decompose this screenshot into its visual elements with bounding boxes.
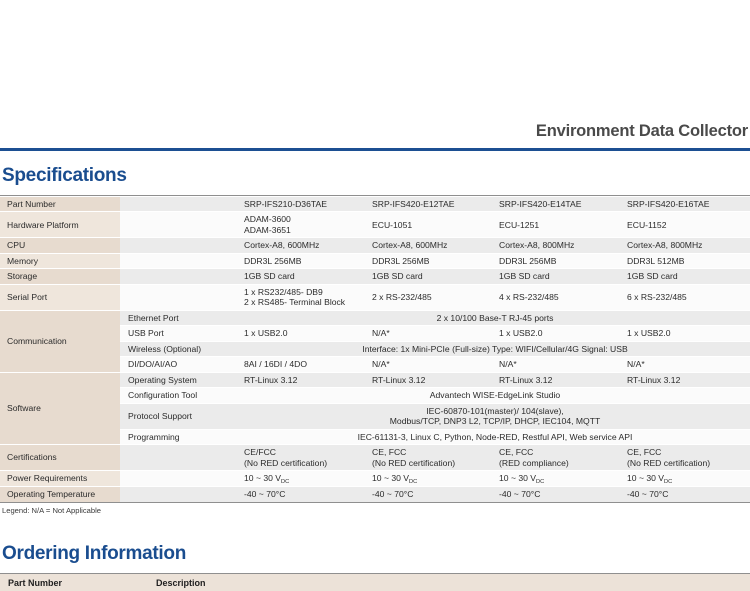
document-header: Environment Data Collector (0, 123, 750, 141)
spec-row-label: Certifications (0, 445, 120, 471)
spec-row-label: Operating Temperature (0, 487, 120, 502)
spec-row-value: RT-Linux 3.12 (366, 372, 493, 387)
spec-row-sublabel: Protocol Support (120, 403, 238, 429)
spec-row-label: Power Requirements (0, 471, 120, 487)
spec-row-sublabel: USB Port (120, 326, 238, 341)
spec-row-value: N/A* (366, 326, 493, 341)
spec-row-value: CE/FCC(No RED certification) (238, 445, 366, 471)
spec-row-label: CPU (0, 238, 120, 253)
legend-text: Legend: N/A = Not Applicable (2, 506, 101, 515)
spec-row-value: DDR3L 256MB (238, 253, 366, 268)
spec-row-merged-value: Interface: 1x Mini-PCIe (Full-size) Type… (238, 341, 750, 356)
section-heading-ordering-information: Ordering Information (2, 544, 186, 563)
spec-row: Hardware PlatformADAM-3600ADAM-3651ECU-1… (0, 212, 750, 238)
spec-row-value: CE, FCC(No RED certification) (621, 445, 750, 471)
spec-row-value: -40 ~ 70°C (493, 487, 621, 502)
spec-row-sublabel (120, 471, 238, 487)
ordering-table-header-row: Part Number Description (0, 574, 750, 591)
spec-row-value: DDR3L 256MB (366, 253, 493, 268)
spec-row: CertificationsCE/FCC(No RED certificatio… (0, 445, 750, 471)
spec-row-value: ADAM-3600ADAM-3651 (238, 212, 366, 238)
spec-row-sublabel: Programming (120, 429, 238, 444)
spec-row-sublabel (120, 197, 238, 212)
spec-row-value: -40 ~ 70°C (238, 487, 366, 502)
spec-row-sublabel (120, 212, 238, 238)
spec-row-value: Cortex-A8, 800MHz (493, 238, 621, 253)
spec-row-value: 8AI / 16DI / 4DO (238, 357, 366, 372)
ordering-header-description: Description (148, 574, 750, 591)
spec-row-label: Storage (0, 269, 120, 284)
spec-row-sublabel (120, 284, 238, 310)
spec-row-sublabel (120, 238, 238, 253)
spec-row-sublabel (120, 269, 238, 284)
spec-row-value: SRP-IFS420-E16TAE (621, 197, 750, 212)
spec-row-value: Cortex-A8, 800MHz (621, 238, 750, 253)
header-divider-rule (0, 148, 750, 151)
spec-row-sublabel: Ethernet Port (120, 310, 238, 325)
spec-row-merged-value: IEC-60870-101(master)/ 104(slave),Modbus… (238, 403, 750, 429)
spec-row-value: RT-Linux 3.12 (621, 372, 750, 387)
spec-row-value: RT-Linux 3.12 (238, 372, 366, 387)
spec-row-label: Communication (0, 310, 120, 372)
spec-row-value: -40 ~ 70°C (621, 487, 750, 502)
spec-row: SoftwareOperating SystemRT-Linux 3.12RT-… (0, 372, 750, 387)
spec-row-sublabel: Configuration Tool (120, 388, 238, 403)
spec-row-value: N/A* (366, 357, 493, 372)
spec-row-value: -40 ~ 70°C (366, 487, 493, 502)
spec-row-value: 1 x USB2.0 (493, 326, 621, 341)
spec-row-sublabel: Operating System (120, 372, 238, 387)
spec-table-body: Part NumberSRP-IFS210-D36TAESRP-IFS420-E… (0, 197, 750, 502)
spec-row: Part NumberSRP-IFS210-D36TAESRP-IFS420-E… (0, 197, 750, 212)
spec-row-value: SRP-IFS420-E14TAE (493, 197, 621, 212)
spec-row-merged-value: Advantech WISE-EdgeLink Studio (238, 388, 750, 403)
spec-row-merged-value: 2 x 10/100 Base-T RJ-45 ports (238, 310, 750, 325)
spec-row-label: Serial Port (0, 284, 120, 310)
spec-row-value: 1GB SD card (366, 269, 493, 284)
spec-row-value: 10 ~ 30 VDC (621, 471, 750, 487)
spec-row-label: Hardware Platform (0, 212, 120, 238)
spec-row-sublabel: DI/DO/AI/AO (120, 357, 238, 372)
spec-row-value: N/A* (493, 357, 621, 372)
spec-row-value: DDR3L 256MB (493, 253, 621, 268)
spec-row: Serial Port1 x RS232/485- DB92 x RS485- … (0, 284, 750, 310)
spec-row-label: Memory (0, 253, 120, 268)
spec-row-value: SRP-IFS210-D36TAE (238, 197, 366, 212)
spec-row-value: DDR3L 512MB (621, 253, 750, 268)
spec-row-value: ECU-1152 (621, 212, 750, 238)
spec-row-value: N/A* (621, 357, 750, 372)
spec-row-value: CE, FCC(No RED certification) (366, 445, 493, 471)
spec-row-sublabel (120, 487, 238, 502)
spec-row-value: ECU-1251 (493, 212, 621, 238)
spec-row-value: 4 x RS-232/485 (493, 284, 621, 310)
spec-row-value: 2 x RS-232/485 (366, 284, 493, 310)
spec-row: Power Requirements10 ~ 30 VDC10 ~ 30 VDC… (0, 471, 750, 487)
spec-row-value: Cortex-A8, 600MHz (366, 238, 493, 253)
spec-row: Storage1GB SD card1GB SD card1GB SD card… (0, 269, 750, 284)
spec-row-value: RT-Linux 3.12 (493, 372, 621, 387)
spec-row-value: CE, FCC(RED compliance) (493, 445, 621, 471)
spec-row-value: 1GB SD card (621, 269, 750, 284)
spec-row: CommunicationEthernet Port2 x 10/100 Bas… (0, 310, 750, 325)
spec-row-sublabel (120, 253, 238, 268)
spec-row-value: 10 ~ 30 VDC (366, 471, 493, 487)
spec-row-label: Software (0, 372, 120, 444)
spec-row-value: 1GB SD card (493, 269, 621, 284)
section-heading-specifications: Specifications (2, 166, 127, 185)
spec-row-value: 6 x RS-232/485 (621, 284, 750, 310)
ordering-header-part-number: Part Number (0, 574, 148, 591)
spec-row-value: SRP-IFS420-E12TAE (366, 197, 493, 212)
spec-row-value: 10 ~ 30 VDC (493, 471, 621, 487)
spec-row-merged-value: IEC-61131-3, Linux C, Python, Node-RED, … (238, 429, 750, 444)
spec-row-value: 1 x USB2.0 (621, 326, 750, 341)
spec-table-bottom-rule (0, 502, 750, 503)
spec-row-value: ECU-1051 (366, 212, 493, 238)
spec-row-value: 10 ~ 30 VDC (238, 471, 366, 487)
spec-row: MemoryDDR3L 256MBDDR3L 256MBDDR3L 256MBD… (0, 253, 750, 268)
spec-row: Operating Temperature-40 ~ 70°C-40 ~ 70°… (0, 487, 750, 502)
spec-row: CPUCortex-A8, 600MHzCortex-A8, 600MHzCor… (0, 238, 750, 253)
spec-row-value: 1 x USB2.0 (238, 326, 366, 341)
ordering-information-table: Part Number Description (0, 573, 750, 591)
spec-row-value: Cortex-A8, 600MHz (238, 238, 366, 253)
spec-row-sublabel: Wireless (Optional) (120, 341, 238, 356)
spec-row-label: Part Number (0, 197, 120, 212)
spec-row-value: 1 x RS232/485- DB92 x RS485- Terminal Bl… (238, 284, 366, 310)
spec-row-sublabel (120, 445, 238, 471)
spec-row-value: 1GB SD card (238, 269, 366, 284)
page-title: Environment Data Collector (536, 122, 748, 140)
specifications-table: Part NumberSRP-IFS210-D36TAESRP-IFS420-E… (0, 196, 750, 502)
spec-sheet-page: Environment Data Collector Specification… (0, 0, 750, 591)
